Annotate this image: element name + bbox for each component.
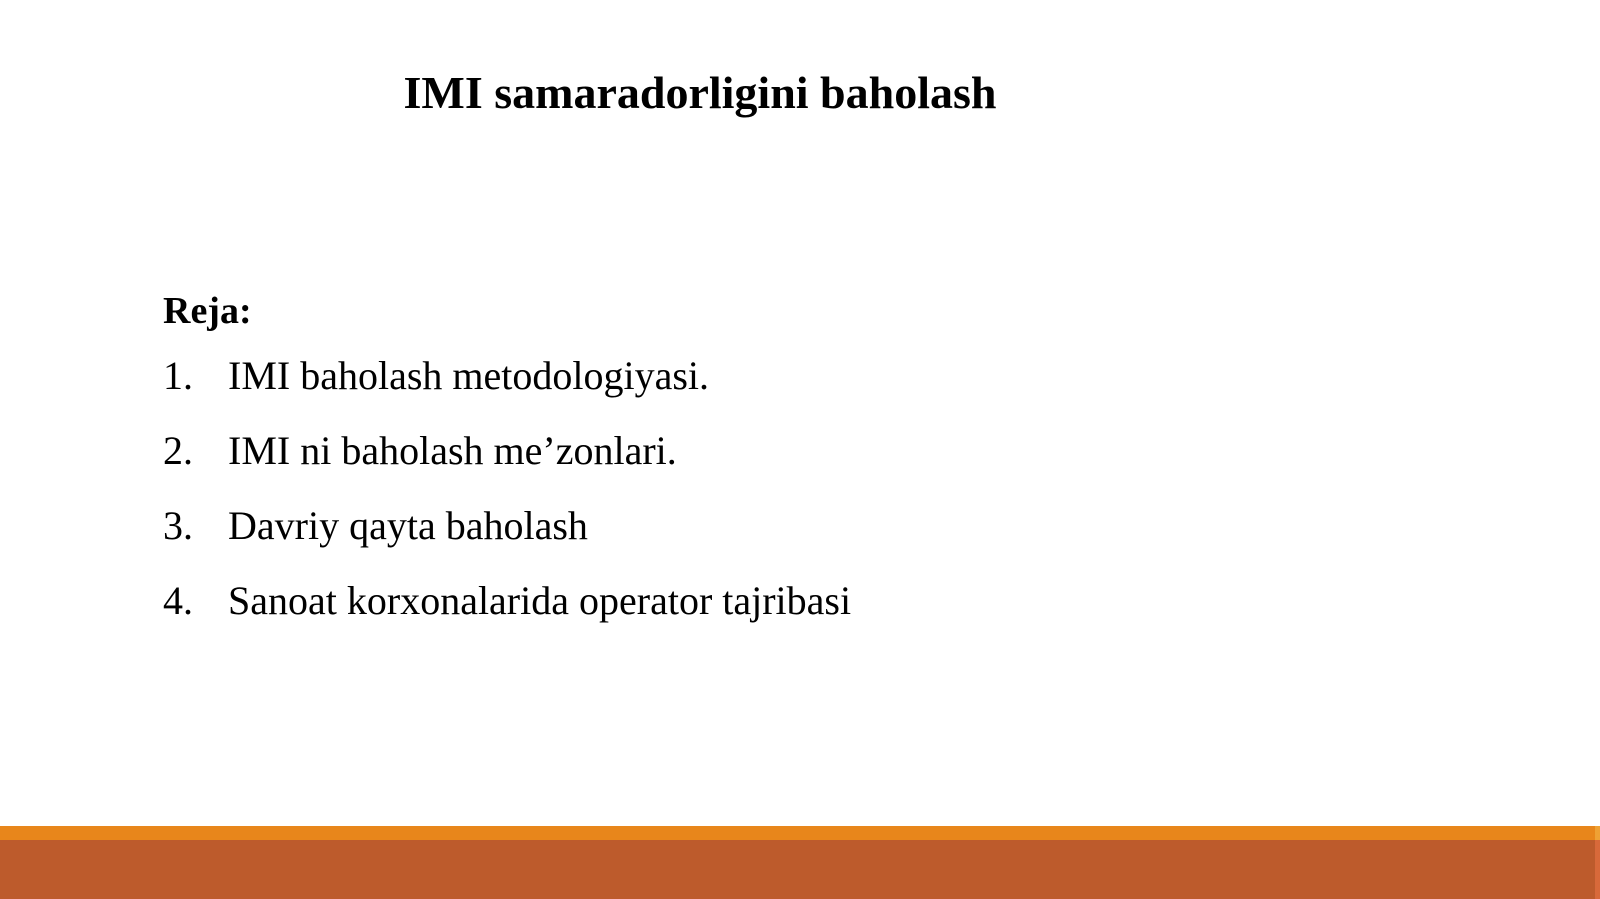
list-item-label: Sanoat korxonalarida operator tajribasi	[228, 581, 851, 621]
list-item-number: 1.	[163, 356, 228, 396]
footer-decoration-bar	[0, 826, 1600, 899]
agenda-list: 1. IMI baholash metodologiyasi. 2. IMI n…	[163, 356, 1363, 621]
list-item-label: IMI ni baholash me’zonlari.	[228, 431, 677, 471]
footer-color-band-edge	[1595, 840, 1600, 899]
list-item-number: 4.	[163, 581, 228, 621]
list-item: 1. IMI baholash metodologiyasi.	[163, 356, 1363, 396]
slide-body: Reja: 1. IMI baholash metodologiyasi. 2.…	[163, 292, 1363, 621]
footer-accent-stripe-edge	[1595, 826, 1600, 840]
agenda-heading: Reja:	[163, 292, 1363, 330]
list-item: 2. IMI ni baholash me’zonlari.	[163, 431, 1363, 471]
list-item-number: 2.	[163, 431, 228, 471]
slide-canvas: IMI samaradorligini baholash Reja: 1. IM…	[0, 0, 1600, 899]
list-item: 4. Sanoat korxonalarida operator tajriba…	[163, 581, 1363, 621]
list-item: 3. Davriy qayta baholash	[163, 506, 1363, 546]
footer-accent-stripe	[0, 826, 1600, 840]
list-item-number: 3.	[163, 506, 228, 546]
page-title: IMI samaradorligini baholash	[0, 68, 1400, 119]
list-item-label: Davriy qayta baholash	[228, 506, 588, 546]
list-item-label: IMI baholash metodologiyasi.	[228, 356, 709, 396]
footer-color-band	[0, 840, 1600, 899]
